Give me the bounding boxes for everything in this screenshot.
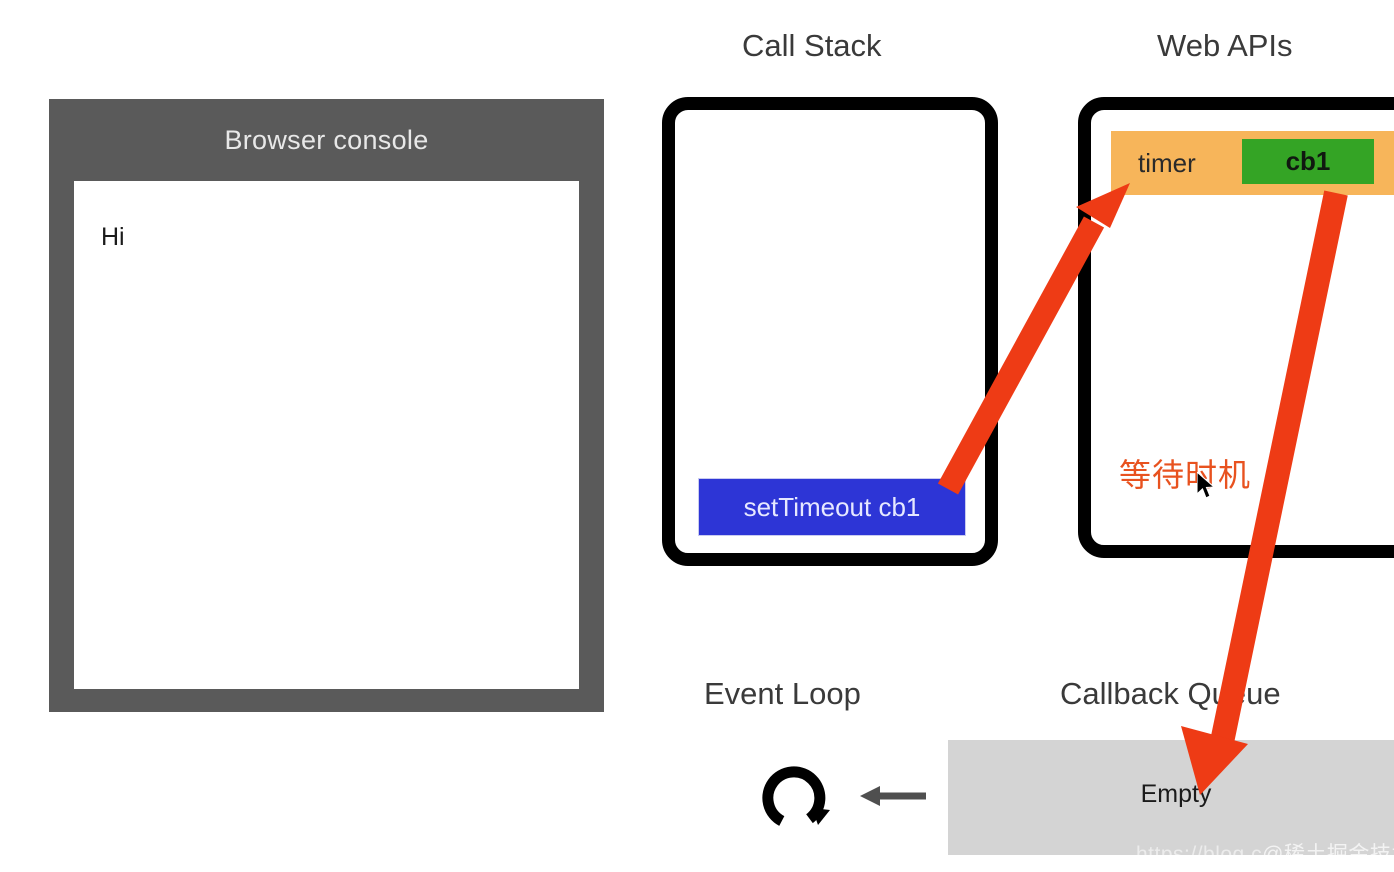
event-loop-heading: Event Loop <box>704 676 861 712</box>
web-apis-heading: Web APIs <box>1157 28 1293 64</box>
watermark-handle: @稀土掘金技术社区 <box>1262 843 1394 866</box>
mouse-cursor-pointer-icon <box>1197 472 1217 502</box>
callback-queue-heading: Callback Queue <box>1060 676 1281 712</box>
web-api-timer-label: timer <box>1138 148 1196 179</box>
web-api-callback-chip: cb1 <box>1242 139 1374 184</box>
watermark: https://blog.c@稀土掘金技术社区 <box>1136 838 1394 868</box>
console-log-line: Hi <box>101 223 125 252</box>
call-stack-frame-settimeout: setTimeout cb1 <box>698 478 966 536</box>
web-api-timer-entry: timer cb1 <box>1111 131 1394 195</box>
watermark-url: https://blog.c <box>1136 843 1262 866</box>
call-stack-heading: Call Stack <box>742 28 882 64</box>
browser-console-output[interactable]: Hi <box>74 181 579 689</box>
browser-console-panel: Browser console Hi <box>49 99 604 712</box>
browser-console-title: Browser console <box>49 99 604 181</box>
event-loop-feed-arrow-icon <box>856 778 928 814</box>
waiting-annotation-text: 等待时机 <box>1119 450 1251 496</box>
event-loop-circular-arrow-icon <box>748 752 840 844</box>
callback-queue-status: Empty <box>948 780 1394 809</box>
